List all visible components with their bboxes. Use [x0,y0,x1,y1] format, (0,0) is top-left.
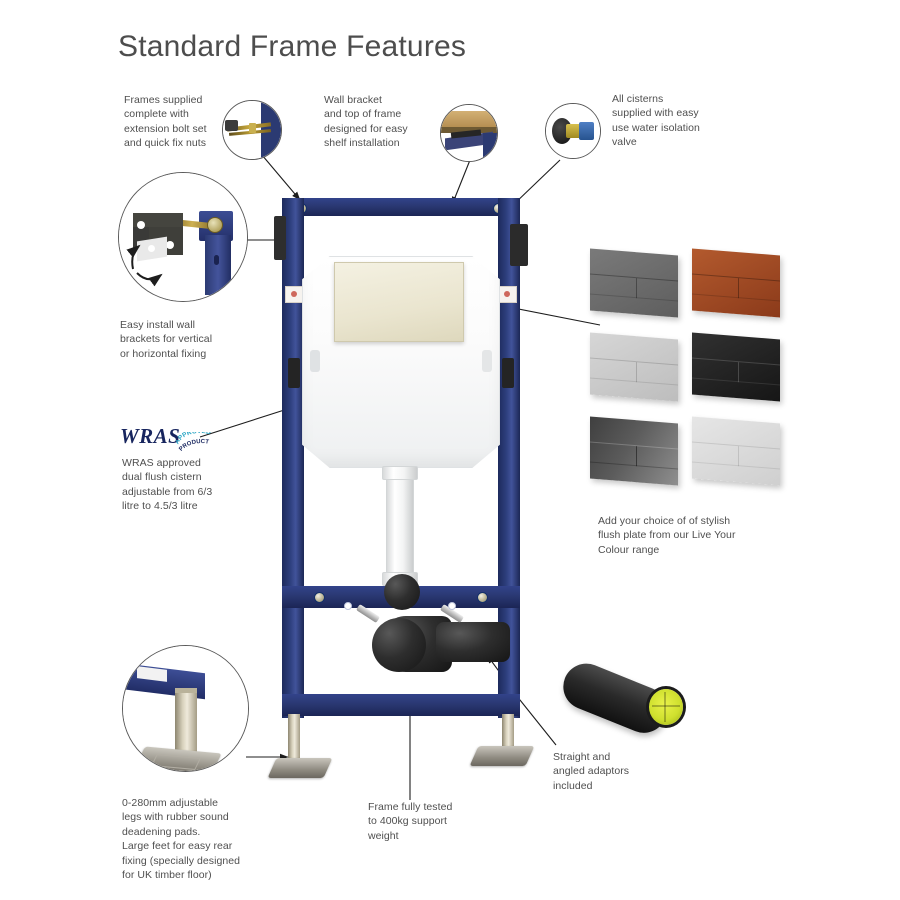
svg-text:PRODUCT: PRODUCT [178,439,209,453]
detail-bubble-adjustable-leg [122,645,249,772]
flush-plate-anthracite[interactable] [590,417,678,486]
waste-pipe-stub [384,574,420,610]
callout-adjustable-legs: 0-280mm adjustable legs with rubber soun… [122,796,277,883]
bolt-hole [344,602,352,610]
wc-frame-assembly [276,198,526,778]
callout-wall-bracket-shelf: Wall bracket and top of frame designed f… [324,93,444,151]
wall-bracket-right [510,224,528,266]
frame-left-rail [282,198,304,718]
wall-bracket-left [274,216,286,260]
waste-pipe-horizontal [436,622,510,662]
flush-plate-dark-grey[interactable] [590,249,678,318]
cistern-side-nub [310,350,320,372]
wras-wordmark: WRAS [120,424,180,449]
bolt-hole [448,602,456,610]
frame-top-rail [282,198,520,216]
detail-bubble-shelf-bracket [440,104,498,162]
page-title: Standard Frame Features [118,30,466,64]
frame-screw [477,592,488,603]
waste-adaptor-product [565,645,685,730]
frame-label-sticker [285,286,304,303]
flush-plate-white[interactable] [692,417,780,486]
callout-wras-cistern: WRAS approved dual flush cistern adjusta… [122,456,262,514]
adaptor-yellow-cap [649,689,683,725]
waste-pipe-flange [372,618,426,672]
detail-bubble-wall-bracket [118,172,248,302]
wras-approved-logo: WRAS APPROVED PRODUCT [120,424,230,454]
diagram-canvas: Standard Frame Features [0,0,900,900]
floor-foot-left [268,758,333,778]
flush-plate-range-grid [590,252,780,478]
frame-bottom-rail [282,694,520,716]
flush-plate-black[interactable] [692,333,780,402]
callout-adaptors: Straight and angled adaptors included [553,750,673,793]
callout-isolation-valve: All cisterns supplied with easy use wate… [612,92,737,150]
callout-flush-plate-range: Add your choice of of stylish flush plat… [598,514,768,557]
flush-plate-copper[interactable] [692,249,780,318]
cistern-inspection-plate [334,262,464,342]
flush-plate-light-grey[interactable] [590,333,678,402]
callout-load-tested: Frame fully tested to 400kg support weig… [368,800,488,843]
frame-clip-left [288,358,300,388]
flush-pipe-collar [382,466,418,480]
wras-badge-icon: APPROVED PRODUCT [176,432,228,458]
floor-foot-right [470,746,535,766]
cistern-side-nub [482,350,492,372]
frame-clip-right [502,358,514,388]
detail-bubble-extension-bolt [222,100,282,160]
detail-bubble-isolation-valve [545,103,601,159]
frame-label-sticker [498,286,517,303]
frame-screw [314,592,325,603]
callout-easy-install-brackets: Easy install wall brackets for vertical … [120,318,260,361]
